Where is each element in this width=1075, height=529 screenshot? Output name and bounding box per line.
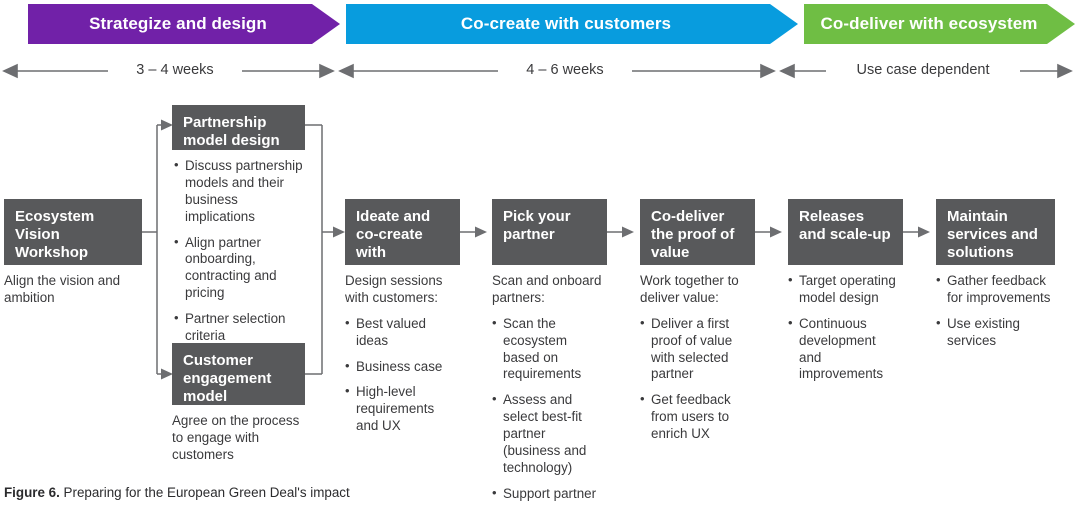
list-item: Align partner onboarding, contracting an… xyxy=(174,235,303,303)
node-title-pick-partner: Pick your partner xyxy=(492,199,607,265)
node-note-ecosystem: Align the vision and ambition xyxy=(4,273,140,307)
timeline-duration-1: 3 – 4 weeks xyxy=(108,48,242,92)
node-title-ecosystem: Ecosystem Vision Workshop xyxy=(4,199,142,265)
list-item: Scan the ecosystem based on requirements xyxy=(492,316,605,384)
node-body-maintain: Gather feedback for improvements Use exi… xyxy=(936,265,1055,350)
list-item: High-level requirements and UX xyxy=(345,384,458,435)
node-body-ecosystem: Align the vision and ambition xyxy=(4,265,142,307)
node-body-ideate: Design sessions with customers: Best val… xyxy=(345,265,460,435)
list-item: Get feedback from users to enrich UX xyxy=(640,392,753,443)
bullet-list-pick-partner: Scan the ecosystem based on requirements… xyxy=(492,316,605,503)
node-co-deliver-proof-of-value[interactable]: Co-deliver the proof of value Work toget… xyxy=(640,199,755,443)
node-body-customer-engagement: Agree on the process to engage with cust… xyxy=(172,405,305,464)
bullet-list-ideate: Best valued ideas Business case High-lev… xyxy=(345,316,458,435)
list-item: Use existing services xyxy=(936,316,1053,350)
arrowhead-to-releases xyxy=(770,227,782,238)
bullet-list-proof-of-value: Deliver a first proof of value with sele… xyxy=(640,316,753,443)
list-item: Target operating model design xyxy=(788,273,901,307)
node-body-partnership: Discuss partnership models and their bus… xyxy=(172,150,305,345)
list-item: Continuous development and improvements xyxy=(788,316,901,384)
figure-caption: Figure 6. Preparing for the European Gre… xyxy=(4,484,424,502)
list-item: Discuss partnership models and their bus… xyxy=(174,158,303,226)
phase-banner: Strategize and design Co-create with cus… xyxy=(0,0,1075,48)
phase-label-3: Co-deliver with ecosystem xyxy=(804,0,1054,48)
phase-label-1: Strategize and design xyxy=(28,0,328,48)
node-title-proof-of-value: Co-deliver the proof of value xyxy=(640,199,755,265)
list-item: Deliver a first proof of value with sele… xyxy=(640,316,753,384)
node-title-maintain: Maintain services and solutions xyxy=(936,199,1055,265)
node-intro-pick-partner: Scan and onboard partners: xyxy=(492,273,605,307)
timeline-duration-2: 4 – 6 weeks xyxy=(498,48,632,92)
node-customer-engagement-model[interactable]: Customer engagement model Agree on the p… xyxy=(172,343,305,473)
arrowhead-to-proof-of-value xyxy=(622,227,634,238)
bullet-list-maintain: Gather feedback for improvements Use exi… xyxy=(936,273,1053,350)
node-intro-ideate: Design sessions with customers: xyxy=(345,273,458,307)
node-ecosystem-vision-workshop[interactable]: Ecosystem Vision Workshop Align the visi… xyxy=(4,199,142,316)
list-item: Gather feedback for improvements xyxy=(936,273,1053,307)
list-item: Business case xyxy=(345,359,458,376)
list-item: Partner selection criteria xyxy=(174,311,303,345)
node-pick-your-partner[interactable]: Pick your partner Scan and onboard partn… xyxy=(492,199,607,503)
node-title-ideate: Ideate and co-create with customers xyxy=(345,199,460,265)
node-body-pick-partner: Scan and onboard partners: Scan the ecos… xyxy=(492,265,607,503)
node-body-releases: Target operating model design Continuous… xyxy=(788,265,903,383)
phase-label-2: Co-create with customers xyxy=(346,0,786,48)
arrowhead-to-pick-partner xyxy=(475,227,487,238)
node-partnership-model-design[interactable]: Partnership model design Discuss partner… xyxy=(172,105,305,345)
node-note-customer-engagement: Agree on the process to engage with cust… xyxy=(172,413,303,464)
list-item: Support partner xyxy=(492,486,605,503)
timeline-row: 3 – 4 weeks 4 – 6 weeks Use case depende… xyxy=(0,48,1075,92)
node-releases-and-scale-up[interactable]: Releases and scale-up Target operating m… xyxy=(788,199,903,383)
node-title-customer-engagement: Customer engagement model xyxy=(172,343,305,405)
bullet-list-partnership: Discuss partnership models and their bus… xyxy=(174,158,303,345)
node-body-proof-of-value: Work together to deliver value: Deliver … xyxy=(640,265,755,443)
bullet-list-releases: Target operating model design Continuous… xyxy=(788,273,901,383)
node-title-releases: Releases and scale-up xyxy=(788,199,903,265)
node-ideate-co-create[interactable]: Ideate and co-create with customers Desi… xyxy=(345,199,460,435)
timeline-duration-3: Use case dependent xyxy=(826,48,1020,92)
arrowhead-to-maintain xyxy=(918,227,930,238)
figure-caption-label: Figure 6. xyxy=(4,485,60,500)
node-maintain-services-solutions[interactable]: Maintain services and solutions Gather f… xyxy=(936,199,1055,350)
node-intro-proof-of-value: Work together to deliver value: xyxy=(640,273,753,307)
list-item: Best valued ideas xyxy=(345,316,458,350)
arrowhead-to-ideate xyxy=(333,227,345,238)
list-item: Assess and select best-fit partner (busi… xyxy=(492,392,605,476)
node-title-partnership: Partnership model design xyxy=(172,105,305,150)
figure-caption-title: Preparing for the European Green Deal's … xyxy=(64,485,350,500)
